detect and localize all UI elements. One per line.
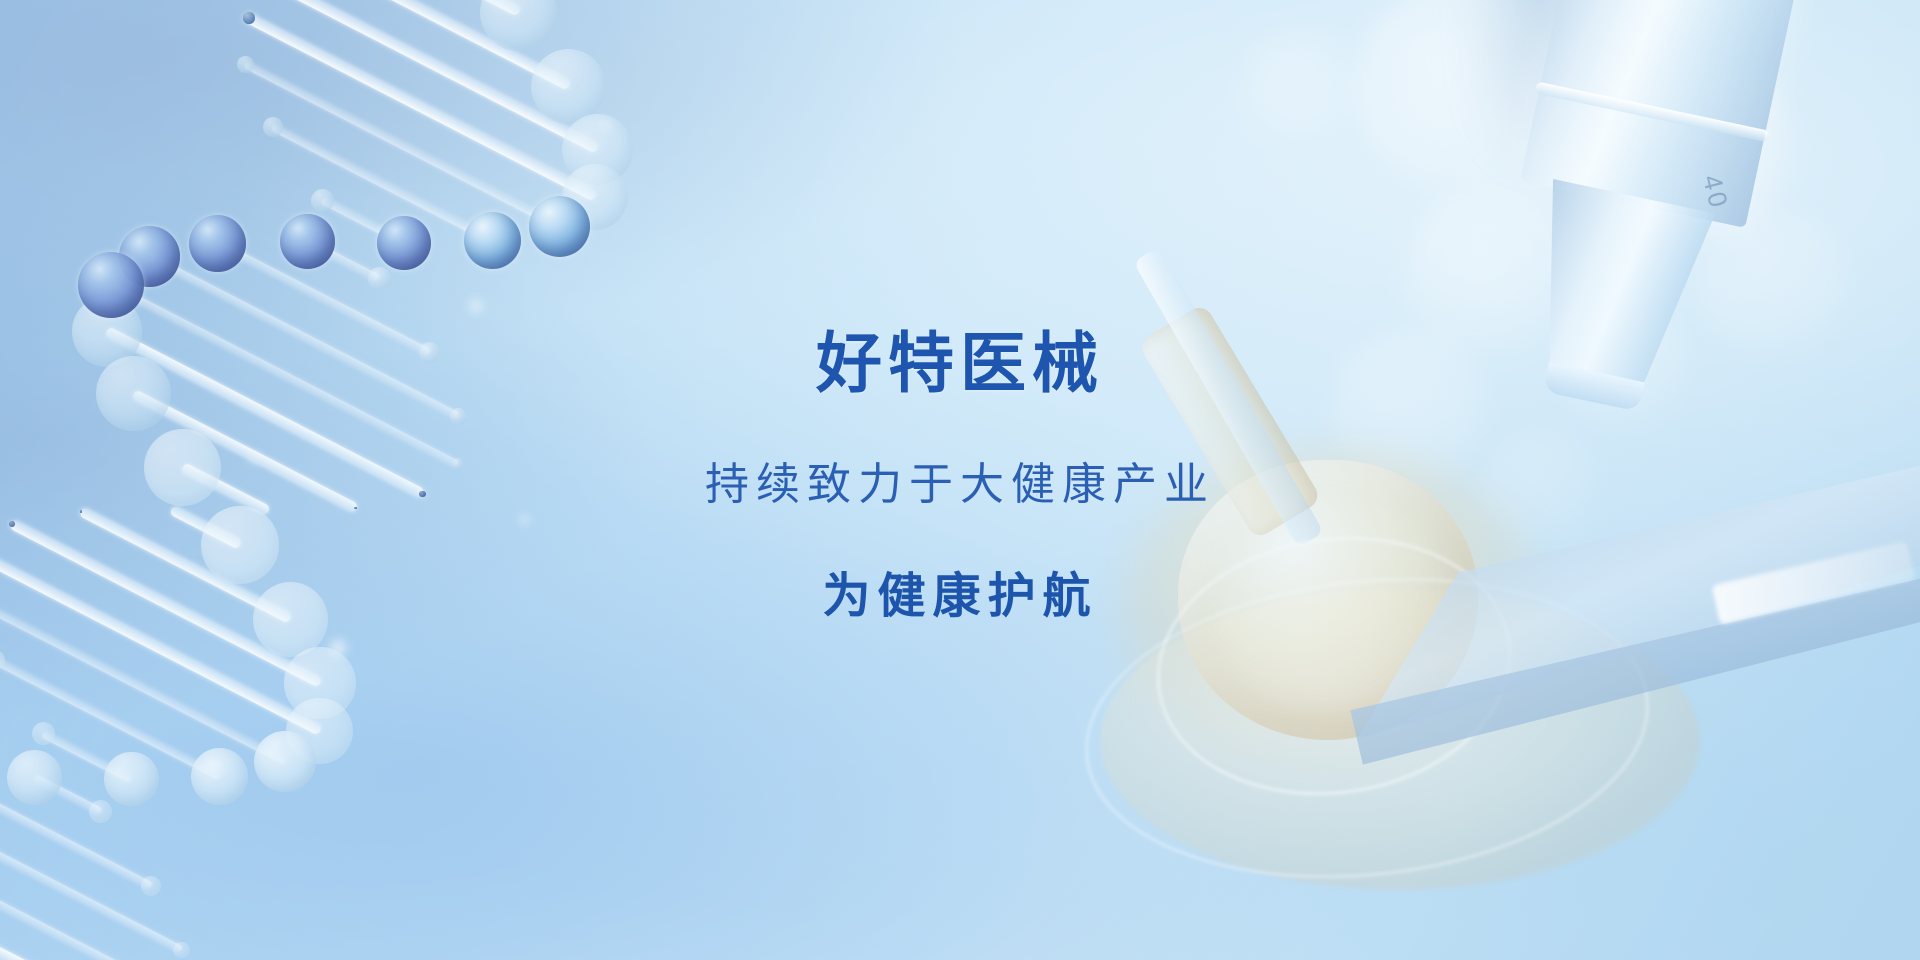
dna-base-bead: [78, 252, 144, 318]
dna-base-bead: [311, 189, 334, 212]
dna-base-bead: [450, 408, 467, 425]
dna-base-bead: [280, 214, 335, 269]
hero-subtitle-primary: 持续致力于大健康产业: [0, 448, 1920, 512]
dna-base-bead: [464, 212, 521, 269]
dna-base-bead: [243, 12, 254, 23]
dna-base-bead: [201, 506, 278, 583]
dna-base-bead: [452, 458, 464, 470]
dna-base-bead: [253, 582, 328, 657]
dna-base-bead: [104, 752, 159, 807]
dna-base-bead: [7, 750, 62, 805]
dna-base-bead: [237, 56, 253, 72]
dna-base-bead: [529, 196, 590, 257]
dna-base-bead: [173, 942, 190, 959]
page-title: 好特医械: [0, 330, 1920, 396]
dna-base-bead: [144, 429, 221, 506]
dna-base-bead: [191, 748, 248, 805]
dna-base-bead: [368, 267, 391, 290]
dna-base-bead: [96, 356, 171, 431]
dna-base-bead: [89, 800, 112, 823]
dna-base-bead: [254, 731, 315, 792]
dna-base-bead: [419, 342, 440, 363]
dna-base-bead: [419, 491, 426, 498]
dna-base-bead: [189, 215, 246, 272]
dna-base-bead: [531, 49, 606, 124]
dna-base-bead: [377, 216, 432, 271]
dna-base-bead: [32, 722, 55, 745]
hero-banner: 40 好特医械 持续致力于大健康产业 为健康护航: [0, 0, 1920, 960]
